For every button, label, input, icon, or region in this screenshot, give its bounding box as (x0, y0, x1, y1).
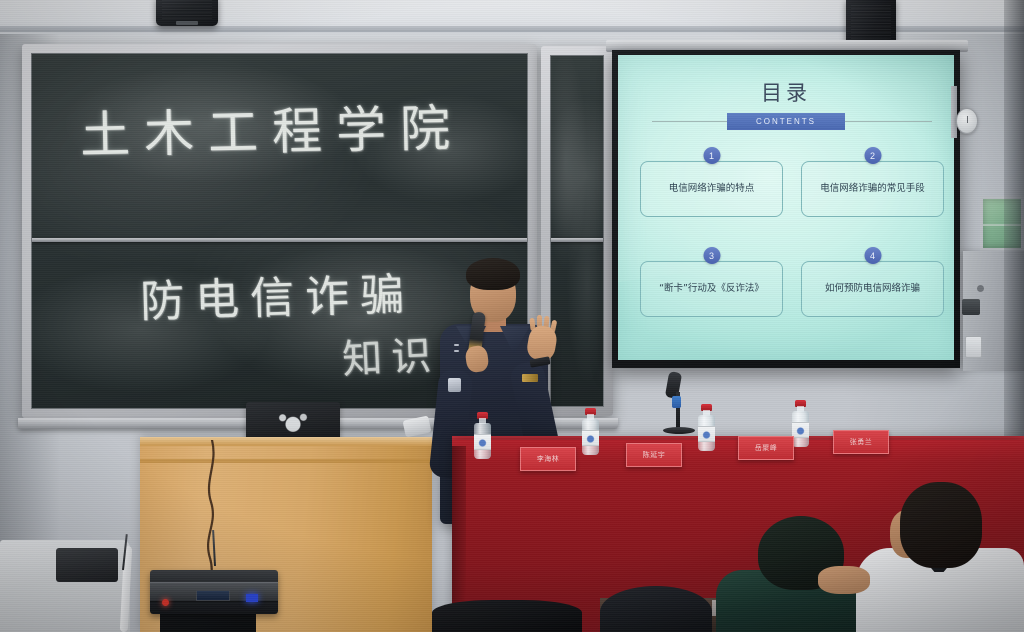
audience-person-hands (818, 566, 870, 594)
slide-contents-banner: CONTENTS (727, 113, 845, 130)
name-card: 李海林 (520, 447, 576, 471)
bottle-label (582, 430, 599, 446)
receiver-display (196, 590, 230, 601)
name-card-text: 岳聚峰 (755, 443, 778, 453)
projection-screen: 目录 CONTENTS 1 电信网络诈骗的特点 2 电信网络诈骗的常见手段 (612, 50, 960, 368)
speaker-grille (162, 0, 212, 21)
uniform-shoulder-badge (448, 378, 461, 392)
name-card: 陈延宇 (626, 443, 682, 467)
wireless-microphone-receiver (150, 570, 278, 614)
blackboard-text-line-2: 防电信诈骗 (139, 258, 416, 330)
speaker-grille (851, 5, 891, 44)
uniform-insignia (454, 350, 459, 352)
slide-title: 目录 (618, 77, 954, 107)
agenda-label: 电信网络诈骗的常见手段 (820, 182, 925, 196)
name-card-text: 李海林 (537, 454, 560, 464)
agenda-label: “断卡”行动及《反诈法》 (659, 282, 764, 296)
wall-mounted-box (962, 299, 980, 315)
agenda-box: 电信网络诈骗的特点 (640, 161, 783, 217)
audience-person-head (600, 586, 712, 632)
blackboard-divider-rail (32, 238, 527, 242)
receiver-blue-led (246, 594, 258, 602)
agenda-box: 电信网络诈骗的常见手段 (801, 161, 944, 217)
agenda-number-badge: 1 (703, 147, 720, 164)
wall-clock-icon (956, 108, 978, 134)
name-card-text: 陈延宇 (643, 450, 666, 460)
audience-person-head (900, 482, 982, 568)
desk-microphone-clip (672, 396, 681, 408)
name-card: 张勇兰 (833, 430, 889, 454)
slide-agenda-grid: 1 电信网络诈骗的特点 2 电信网络诈骗的常见手段 3 “断卡”行动及《反诈法》 (640, 147, 944, 337)
agenda-item: 1 电信网络诈骗的特点 (640, 147, 783, 237)
uniform-chest-badge (522, 374, 538, 382)
speaker-badge (176, 21, 198, 25)
name-card-text: 张勇兰 (850, 437, 873, 447)
presentation-slide: 目录 CONTENTS 1 电信网络诈骗的特点 2 电信网络诈骗的常见手段 (618, 55, 954, 360)
uniform-insignia (454, 344, 459, 346)
laptop-screen-reflection (267, 410, 319, 436)
blackboard-text-line-1: 土木工程学院 (79, 88, 464, 167)
agenda-item: 2 电信网络诈骗的常见手段 (801, 147, 944, 237)
bottle-label (698, 426, 715, 442)
classroom-photo: 土木工程学院 防电信诈骗 知识 目录 CONTENTS 1 电信网络诈骗的特点 … (0, 0, 1024, 632)
agenda-label: 电信网络诈骗的特点 (669, 182, 755, 196)
chalk-smear (550, 96, 604, 256)
agenda-item: 3 “断卡”行动及《反诈法》 (640, 247, 783, 337)
clock-bracket (951, 86, 957, 138)
agenda-number-badge: 3 (703, 247, 720, 264)
wall-speaker-left-icon (156, 0, 218, 26)
name-card: 岳聚峰 (738, 436, 794, 460)
agenda-box: 如何预防电信网络诈骗 (801, 261, 944, 317)
agenda-box: “断卡”行动及《反诈法》 (640, 261, 783, 317)
receiver-power-led (162, 599, 169, 606)
audience-person-head (432, 600, 582, 632)
agenda-label: 如何预防电信网络诈骗 (825, 282, 920, 296)
wall-socket-icon (965, 336, 982, 358)
agenda-number-badge: 4 (864, 247, 881, 264)
side-equipment-dark-part (56, 548, 118, 582)
blackboard-divider-rail (551, 238, 603, 242)
bottle-label (474, 434, 491, 450)
bottle-label (792, 422, 809, 438)
agenda-item: 4 如何预防电信网络诈骗 (801, 247, 944, 337)
presenter-hair (466, 258, 520, 290)
agenda-number-badge: 2 (864, 147, 881, 164)
desk-microphone-base (663, 427, 695, 434)
